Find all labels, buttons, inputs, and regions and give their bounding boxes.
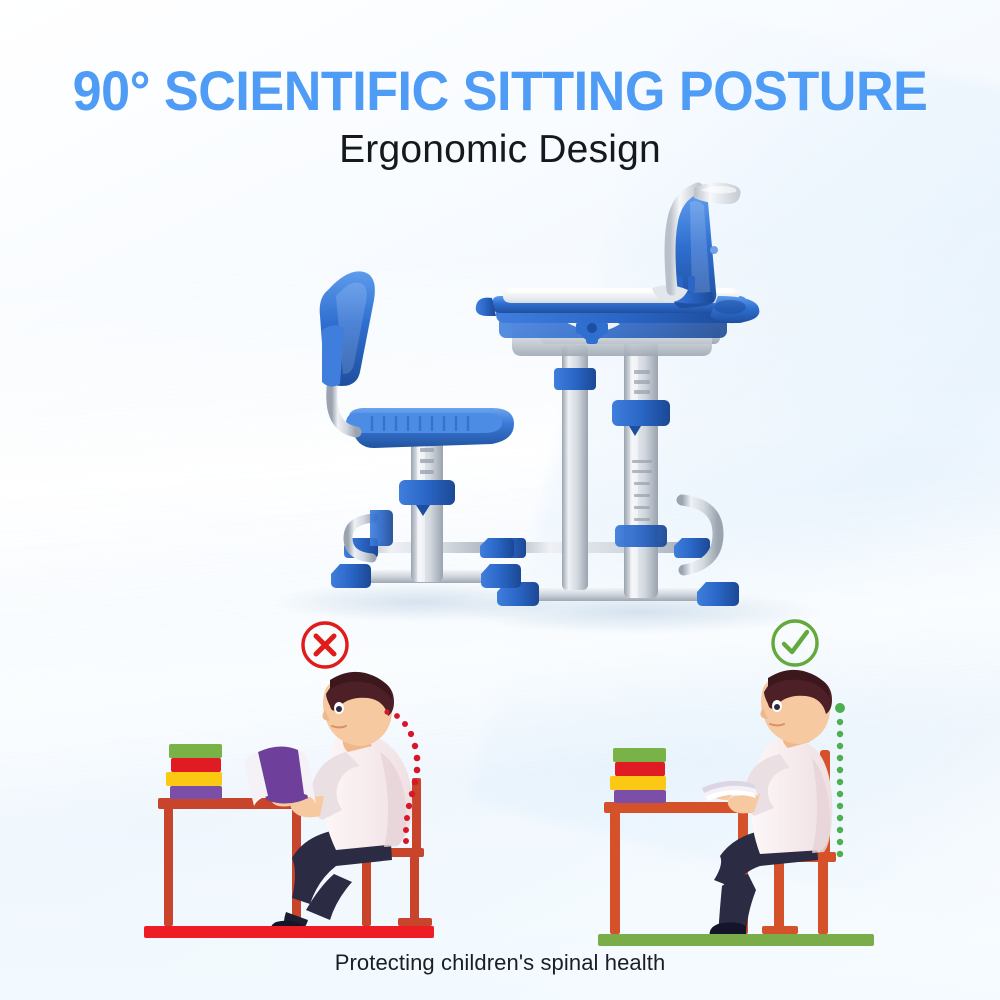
good-figure-head <box>761 670 833 748</box>
chair[interactable] <box>320 271 521 588</box>
chair-seat[interactable] <box>346 408 514 448</box>
desk-side-bar <box>682 500 718 570</box>
page-title: 90° SCIENTIFIC SITTING POSTURE <box>35 58 965 123</box>
good-floor-bar <box>598 934 874 946</box>
check-icon <box>784 632 807 652</box>
bad-figure-torso <box>323 734 412 850</box>
bad-book-stack <box>166 744 222 799</box>
bad-posture-scene <box>140 660 470 960</box>
bad-book <box>244 746 316 806</box>
bad-desk <box>158 798 310 926</box>
check-badge-circle <box>773 621 817 665</box>
good-book-stack <box>610 748 666 803</box>
chair-backrest[interactable] <box>320 271 375 386</box>
desk-top[interactable] <box>476 288 760 323</box>
straight-spine-indicator <box>835 703 845 857</box>
desk-base <box>490 538 739 606</box>
footer-caption: Protecting children's spinal health <box>0 950 1000 976</box>
close-icon <box>316 636 334 654</box>
chair-column[interactable] <box>370 426 455 582</box>
poster-canvas: 90° SCIENTIFIC SITTING POSTURE Ergonomic… <box>0 0 1000 1000</box>
desk-rear-column <box>554 345 596 590</box>
desk-column[interactable] <box>612 330 670 598</box>
bad-floor-bar <box>144 926 434 938</box>
bad-figure-head <box>323 672 395 752</box>
page-subtitle: Ergonomic Design <box>0 128 1000 172</box>
good-posture-scene <box>596 660 926 960</box>
product-illustration <box>0 170 1000 640</box>
